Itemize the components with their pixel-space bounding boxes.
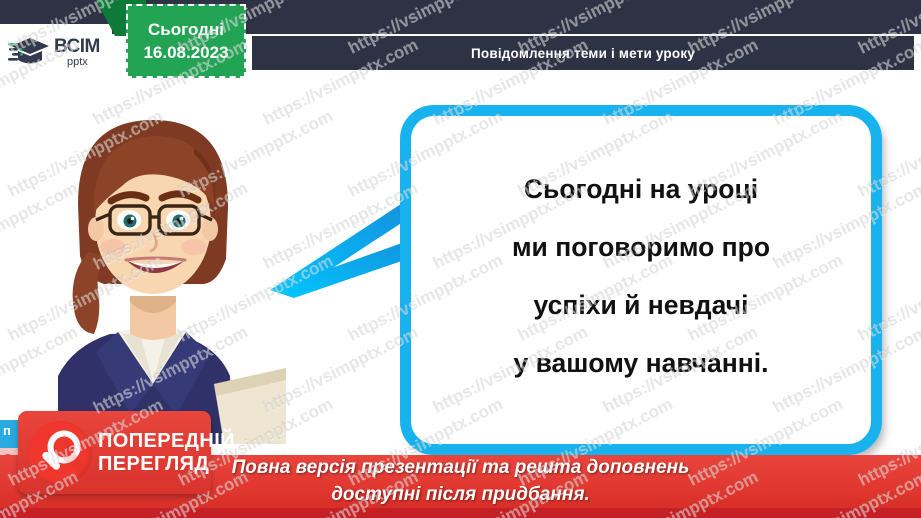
- date-badge: Сьогодні 16.08.2023: [126, 4, 246, 78]
- slide-title-band: Повідомлення теми і мети уроку: [252, 36, 914, 70]
- magnifier-icon: [28, 421, 92, 485]
- logo-subtitle: pptx: [67, 57, 100, 68]
- brand-logo[interactable]: ВСІМ pptx: [0, 24, 112, 80]
- date-badge-label: Сьогодні: [148, 21, 224, 38]
- page-title: Повідомлення теми і мети уроку: [471, 46, 695, 61]
- purchase-notice-line-2: доступні після придбання.: [331, 482, 590, 508]
- bubble-line-2: ми поговоримо про: [415, 218, 867, 276]
- bubble-line-3: успіхи й невдачі: [415, 276, 867, 334]
- banner-bottom-stripe: [0, 508, 921, 518]
- bubble-line-4: у вашому навчанні.: [415, 334, 867, 392]
- teacher-svg: [18, 84, 288, 444]
- purchase-notice-line-1: Повна версія презентації та решта доповн…: [232, 455, 690, 481]
- preview-badge-line-1: ПОПЕРЕДНІЙ: [98, 431, 235, 451]
- graduation-cap-icon: [8, 35, 50, 69]
- date-badge-value: 16.08.2023: [143, 44, 228, 61]
- bubble-line-1: Сьогодні на уроці: [415, 160, 867, 218]
- logo-name: ВСІМ: [54, 37, 100, 56]
- preview-badge[interactable]: ПОПЕРЕДНІЙ ПЕРЕГЛЯД: [18, 411, 211, 494]
- speech-bubble-text: Сьогодні на уроці ми поговоримо про успі…: [415, 160, 867, 392]
- preview-badge-line-2: ПЕРЕГЛЯД: [98, 454, 235, 474]
- teacher-illustration: [18, 84, 288, 444]
- presentation-slide: Сьогодні на уроці ми поговоримо про успі…: [0, 0, 921, 518]
- background-blue-strip-text: п: [3, 423, 11, 438]
